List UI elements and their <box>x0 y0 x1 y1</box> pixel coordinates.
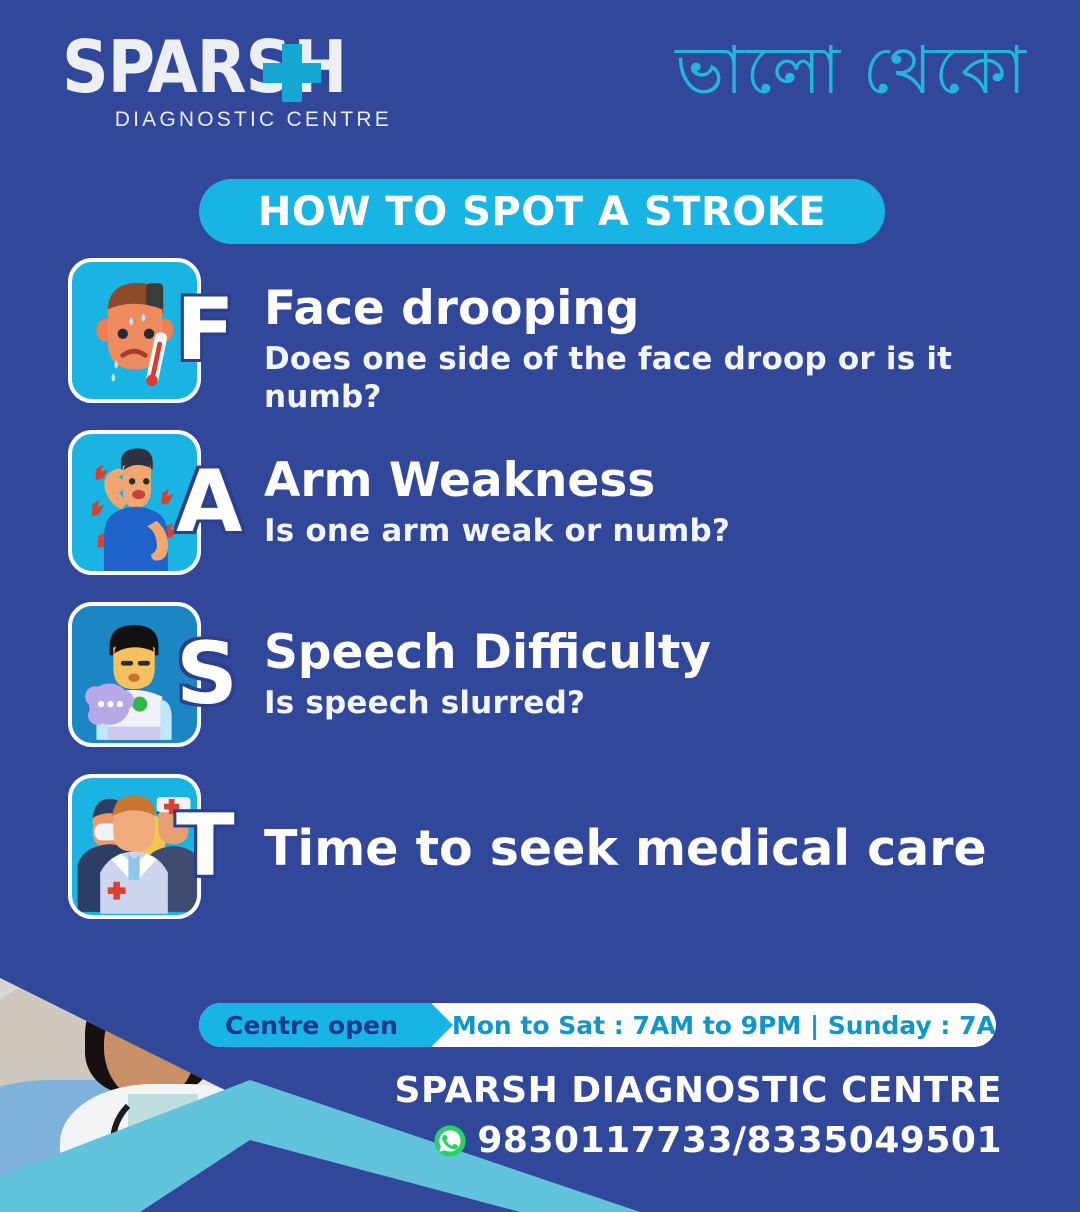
centre-hours-value: Mon to Sat : 7AM to 9PM | Sunday : 7AM t… <box>432 1011 996 1040</box>
logo-word-pre: SPAR <box>62 25 246 109</box>
sign-row-time: T Time to seek medical care <box>0 774 1080 946</box>
sparsh-logo: SPARSH DIAGNOSTIC CENTRE <box>62 28 392 132</box>
sign-letter-t: T <box>176 792 246 900</box>
footer-phone-number: 9830117733/8335049501 <box>477 1120 1002 1161</box>
sign-title-time: Time to seek medical care <box>264 822 1040 876</box>
footer-centre-name: SPARSH DIAGNOSTIC CENTRE <box>382 1068 1002 1114</box>
page-title-banner: HOW TO SPOT A STROKE <box>199 179 885 244</box>
medical-cross-icon <box>263 44 321 102</box>
sign-row-arm: A Arm Weakness Is one arm weak or numb? <box>0 430 1080 602</box>
stroke-signs-list: F Face drooping Does one side of the fac… <box>0 258 1080 946</box>
centre-open-tag: Centre open <box>199 1003 432 1047</box>
centre-hours-bar: Centre open Mon to Sat : 7AM to 9PM | Su… <box>199 1003 996 1047</box>
sign-letter-f: F <box>176 276 246 384</box>
sign-title-arm: Arm Weakness <box>264 454 1040 508</box>
logo-subtitle: DIAGNOSTIC CENTRE <box>62 108 392 132</box>
centre-open-label: Centre open <box>225 1011 398 1040</box>
sign-title-speech: Speech Difficulty <box>264 626 1040 680</box>
footer-contact-line: 9830117733/8335049501 <box>382 1120 1002 1161</box>
sign-subtitle-arm: Is one arm weak or numb? <box>264 512 1040 550</box>
logo-wordmark: SPARSH <box>62 28 392 106</box>
sign-letter-s: S <box>176 620 246 728</box>
poster-footer: SPARSH DIAGNOSTIC CENTRE 9830117733/8335… <box>382 1068 1002 1161</box>
sign-text-arm: Arm Weakness Is one arm weak or numb? <box>264 454 1040 550</box>
sign-text-speech: Speech Difficulty Is speech slurred? <box>264 626 1040 722</box>
whatsapp-icon[interactable] <box>433 1124 467 1158</box>
sign-subtitle-face: Does one side of the face droop or is it… <box>264 340 1040 416</box>
page-title: HOW TO SPOT A STROKE <box>258 189 826 235</box>
sign-text-face: Face drooping Does one side of the face … <box>264 282 1040 416</box>
sign-row-face: F Face drooping Does one side of the fac… <box>0 258 1080 430</box>
sign-subtitle-speech: Is speech slurred? <box>264 684 1040 722</box>
stroke-awareness-poster: SPARSH DIAGNOSTIC CENTRE ভালো থেকো HOW T… <box>0 0 1080 1212</box>
sign-row-speech: S Speech Difficulty Is speech slurred? <box>0 602 1080 774</box>
bengali-tagline: ভালো থেকো <box>675 22 1028 118</box>
sign-title-face: Face drooping <box>264 282 1040 336</box>
sign-letter-a: A <box>176 448 246 556</box>
poster-header: SPARSH DIAGNOSTIC CENTRE ভালো থেকো <box>0 0 1080 160</box>
sign-text-time: Time to seek medical care <box>264 822 1040 876</box>
